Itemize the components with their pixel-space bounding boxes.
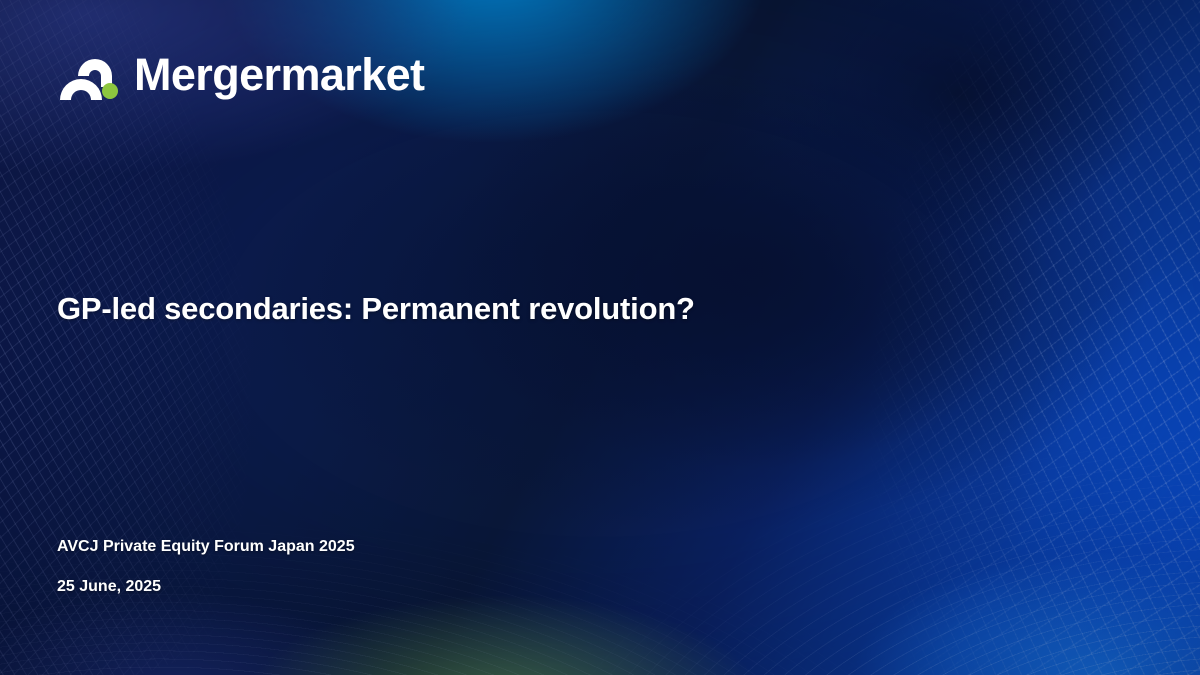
logo-green-dot — [102, 83, 118, 99]
footer-date: 25 June, 2025 — [57, 579, 355, 595]
slide-footer: AVCJ Private Equity Forum Japan 2025 25 … — [57, 539, 355, 595]
title-slide: Mergermarket GP-led secondaries: Permane… — [0, 0, 1200, 675]
slide-title: GP-led secondaries: Permanent revolution… — [57, 291, 695, 327]
mergermarket-arch-mark-icon — [58, 46, 120, 102]
brand-wordmark: Mergermarket — [134, 52, 424, 97]
brand-logo: Mergermarket — [58, 46, 424, 102]
footer-event-name: AVCJ Private Equity Forum Japan 2025 — [57, 539, 355, 555]
